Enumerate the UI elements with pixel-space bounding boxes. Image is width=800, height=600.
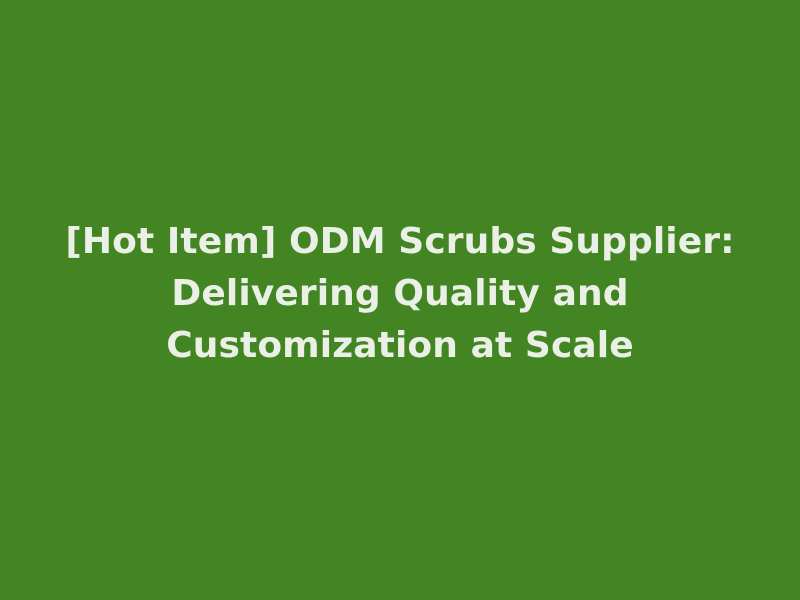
- page-title: [Hot Item] ODM Scrubs Supplier: Deliveri…: [30, 216, 770, 372]
- banner-background: [Hot Item] ODM Scrubs Supplier: Deliveri…: [0, 0, 800, 600]
- title-block: [Hot Item] ODM Scrubs Supplier: Deliveri…: [30, 216, 770, 372]
